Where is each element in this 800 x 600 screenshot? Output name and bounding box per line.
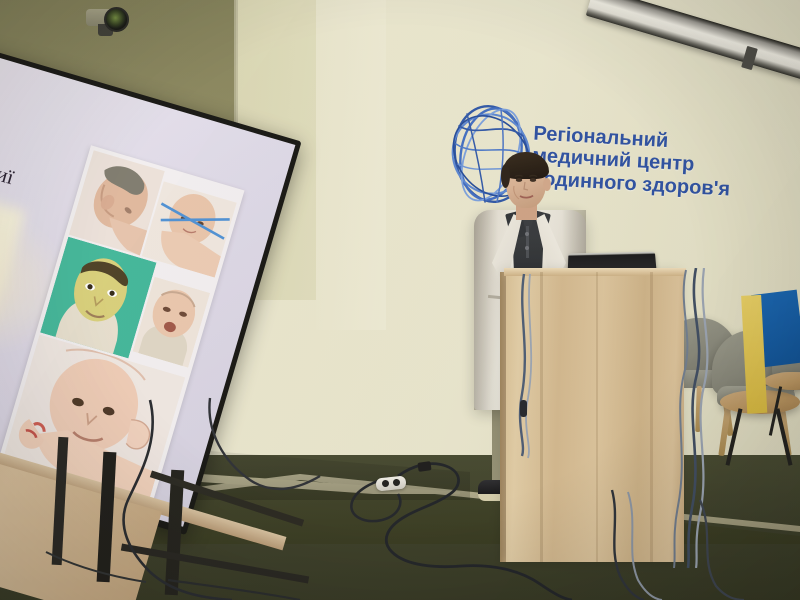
polo-placket [526, 226, 529, 258]
floor-cables [0, 380, 800, 600]
camera-lens-icon [104, 7, 129, 32]
polo-button [525, 232, 529, 236]
wall-column-right [316, 0, 386, 330]
presentation-hall-photo: Регіональний медичний центр родинного зд… [0, 0, 800, 600]
cable-plug [417, 461, 431, 472]
video-conference-camera [86, 7, 128, 31]
polo-button [525, 246, 529, 250]
presenter-face [506, 158, 546, 208]
